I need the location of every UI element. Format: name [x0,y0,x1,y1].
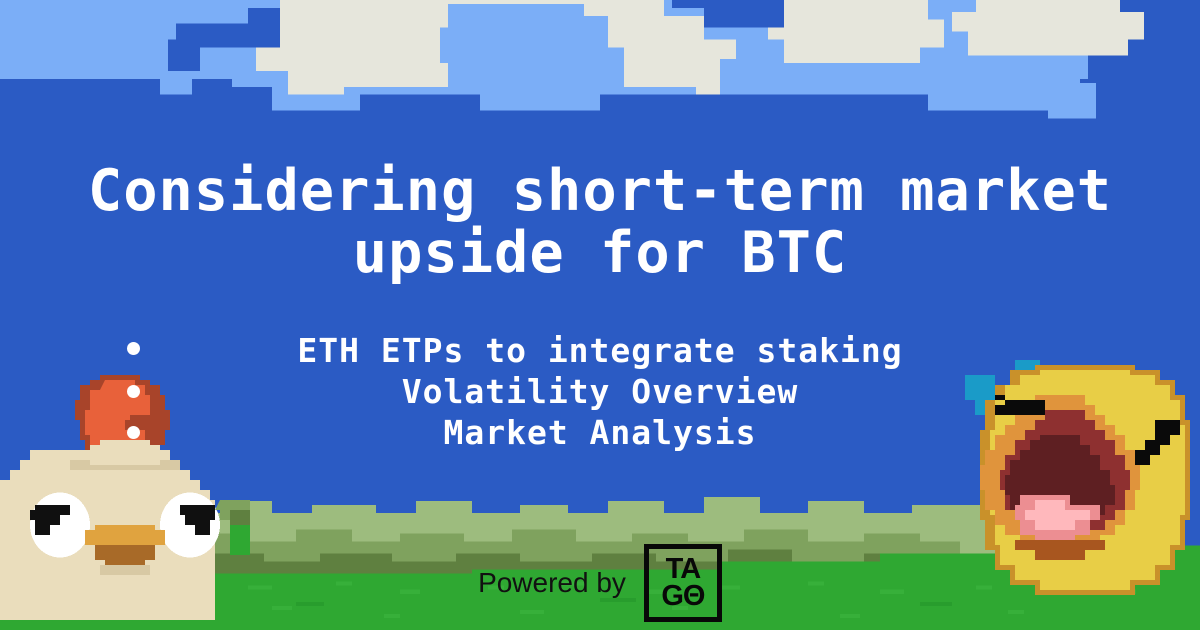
headline-line-1: Considering short-term market [0,160,1200,222]
bullet-dot-1 [127,342,140,355]
headline: Considering short-term market upside for… [0,160,1200,284]
bullet-dot-3 [127,426,140,439]
pixel-clouds [0,0,1200,150]
tago-logo-bottom: GΘ [661,583,704,610]
bullet-dot-2 [127,385,140,398]
news-share-card: Considering short-term market upside for… [0,0,1200,630]
bullet-markers [0,330,1200,460]
tago-logo: TA GΘ [644,544,722,622]
headline-line-2: upside for BTC [0,222,1200,284]
tago-logo-top: TA [666,556,701,583]
powered-by-label: Powered by [478,569,626,597]
footer-branding: Powered by TA GΘ [0,544,1200,622]
